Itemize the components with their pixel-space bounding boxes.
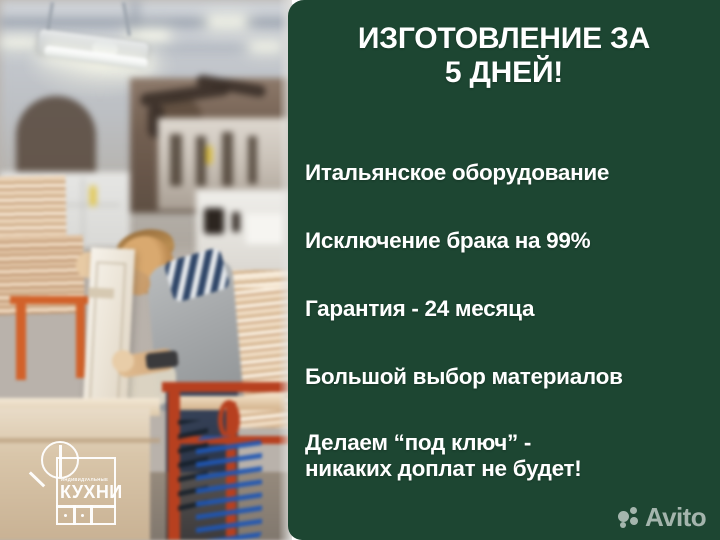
benefit-item: Делаем “под ключ” -никаких доплат не буд…: [305, 430, 713, 482]
advertisement-banner: ИНДИВИДУАЛЬНЫЕ КУХНИ ИЗГОТОВЛЕНИЕ ЗА 5 Д…: [0, 0, 720, 540]
cabinet-opening: [204, 208, 224, 234]
benefit-item: Гарантия - 24 месяца: [305, 296, 713, 322]
headline: ИЗГОТОВЛЕНИЕ ЗА 5 ДНЕЙ!: [288, 22, 720, 90]
worker-hand: [112, 350, 134, 372]
benefit-list: Итальянское оборудование Исключение брак…: [305, 160, 713, 483]
magnifier-handle-icon: [29, 471, 45, 487]
logo-divider: [56, 505, 116, 508]
logo-handle-dot: [81, 514, 84, 517]
avito-dots-icon: [618, 507, 640, 529]
company-logo[interactable]: ИНДИВИДУАЛЬНЫЕ КУХНИ: [28, 437, 120, 529]
benefit-item: Итальянское оборудование: [305, 160, 713, 186]
machine-indicator: [206, 146, 212, 164]
blue-coiled-hose: [196, 436, 262, 540]
ceiling-beam: [0, 18, 292, 27]
logo-wordmark: КУХНИ: [60, 482, 116, 503]
wall-marker: [90, 186, 96, 206]
red-cart-handle: [218, 400, 240, 440]
wall-grid-line: [82, 178, 84, 242]
wood-panel-stack: [0, 175, 67, 240]
orange-cart-leg: [16, 300, 26, 380]
red-cart-frame: [162, 382, 292, 392]
logo-cabinet-divider: [73, 505, 76, 525]
ceiling-light-icon: [208, 18, 246, 26]
avito-wordmark: Avito: [645, 502, 706, 533]
benefit-item: Большой выбор материалов: [305, 364, 713, 390]
headline-line-2: 5 ДНЕЙ!: [288, 56, 720, 90]
machine-arc: [16, 96, 96, 176]
headline-line-1: ИЗГОТОВЛЕНИЕ ЗА: [288, 22, 720, 56]
machine-slot: [170, 134, 182, 186]
door-panel-notch: [88, 287, 114, 298]
machine-slot: [196, 136, 206, 186]
machine-slot: [248, 136, 257, 184]
avito-watermark: Avito: [618, 502, 706, 533]
machine-slot: [222, 132, 233, 186]
worker-tool: [145, 350, 178, 369]
logo-handle-dot: [64, 514, 67, 517]
green-content-panel: ИЗГОТОВЛЕНИЕ ЗА 5 ДНЕЙ! Итальянское обор…: [288, 0, 720, 540]
cabinet-opening: [232, 212, 240, 232]
factory-photo: ИНДИВИДУАЛЬНЫЕ КУХНИ: [0, 0, 292, 540]
benefit-item: Исключение брака на 99%: [305, 228, 713, 254]
logo-cabinet-divider: [90, 505, 93, 525]
orange-cart-leg: [76, 300, 85, 378]
